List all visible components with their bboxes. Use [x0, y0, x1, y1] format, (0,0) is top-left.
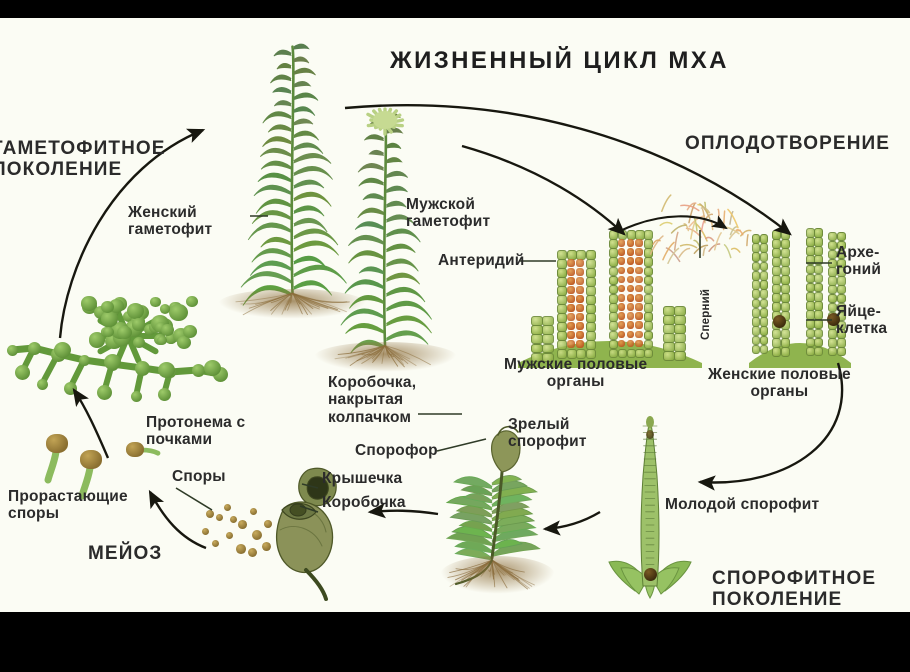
- image-frame: ЖИЗНЕННЫЙ ЦИКЛ МХА ГАМЕТОФИТНОЕ ПОКОЛЕНИ…: [0, 0, 910, 672]
- label-sperm: Сперний: [700, 289, 713, 340]
- label-capsule: Коробочка: [322, 494, 406, 511]
- label-spores: Споры: [172, 468, 226, 485]
- label-sporophore: Спорофор: [355, 442, 438, 459]
- label-capsule-with-calyptra: Коробочка, накрытая колпачком: [328, 374, 416, 426]
- arrow-germinating-to-protonema: [74, 390, 108, 458]
- arrow-sperm-to-archegonia: [620, 216, 726, 231]
- letterbox-bar-top: [0, 0, 910, 18]
- label-sporophyte-generation: СПОРОФИТНОЕ ПОКОЛЕНИЕ: [712, 568, 876, 611]
- leader-sporophore: [437, 439, 486, 451]
- arrow-young-to-mature-sporophyte: [545, 512, 600, 529]
- letterbox-bar-bottom: [0, 612, 910, 672]
- leader-operculum: [302, 484, 318, 488]
- label-fertilization: ОПЛОДОТВОРЕНИЕ: [685, 133, 890, 154]
- label-gametophyte-generation: ГАМЕТОФИТНОЕ ПОКОЛЕНИЕ: [0, 138, 166, 181]
- label-mature-sporophyte: Зрелый спорофит: [508, 416, 587, 451]
- label-male-sex-organs: Мужские половые органы: [504, 356, 647, 391]
- leader-spores: [176, 488, 212, 510]
- label-archegonium: Архе- гоний: [836, 244, 881, 279]
- label-operculum: Крышечка: [322, 470, 402, 487]
- label-meiosis: МЕЙОЗ: [88, 543, 162, 564]
- label-egg-cell: Яйце- клетка: [836, 303, 887, 338]
- arrow-overlay: [0, 18, 910, 612]
- page-title: ЖИЗНЕННЫЙ ЦИКЛ МХА: [390, 48, 729, 75]
- label-antheridium: Антеридий: [438, 252, 524, 269]
- label-protonema-with-buds: Протонема с почками: [146, 414, 245, 449]
- label-male-gametophyte: Мужской гаметофит: [406, 196, 490, 231]
- label-germinating-spores: Прорастающие споры: [8, 488, 128, 523]
- label-young-sporophyte: Молодой спорофит: [665, 496, 819, 513]
- diagram-canvas: ЖИЗНЕННЫЙ ЦИКЛ МХА ГАМЕТОФИТНОЕ ПОКОЛЕНИ…: [0, 18, 910, 612]
- label-female-gametophyte: Женский гаметофит: [128, 204, 212, 239]
- leader-capsule: [300, 506, 318, 512]
- label-female-sex-organs: Женские половые органы: [708, 366, 851, 401]
